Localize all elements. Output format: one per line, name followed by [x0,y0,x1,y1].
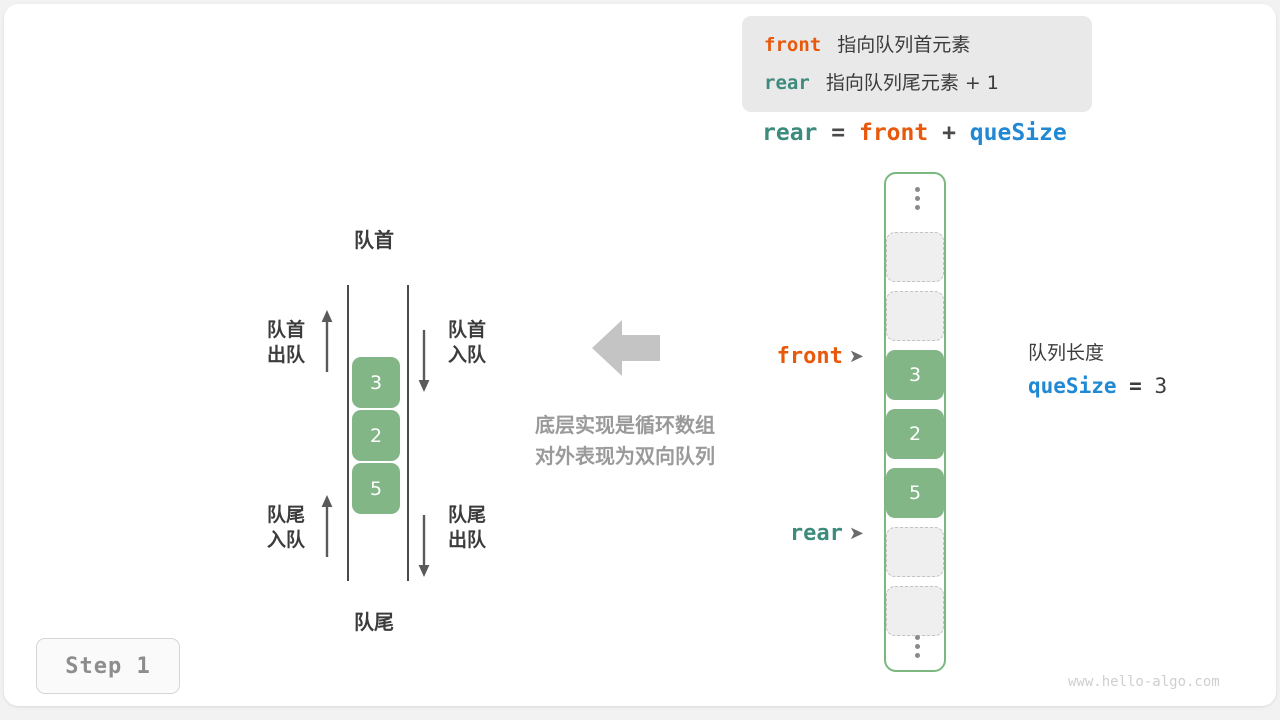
array-cell-2-value: 3 [909,364,921,386]
front-pointer-text: front [777,344,843,369]
rear-pointer-arrow-icon: ➤ [849,523,864,544]
queue-length-note: 队列长度 queSize = 3 [1028,338,1167,398]
rear-pointer-label: rear➤ [688,521,864,546]
deque-bottom-label: 队尾 [312,610,436,636]
op-front-dequeue-line1: 队首 [249,318,305,343]
deque-cell-0-value: 3 [370,372,382,394]
mapping-arrow-icon [592,318,660,378]
deque-rail-right [407,285,409,581]
quesize-value: 3 [1154,374,1167,398]
deque-cell-1-value: 2 [370,425,382,447]
array-cell-4-value: 5 [909,482,921,504]
op-rear-dequeue-line2: 出队 [448,528,508,553]
rear-pointer-text: rear [790,521,843,546]
implementation-note-line1: 底层实现是循环数组 [503,410,747,441]
implementation-note-line2: 对外表现为双向队列 [503,441,747,472]
array-cell-1[interactable] [886,291,944,341]
step-badge-label: Step 1 [65,654,150,679]
op-rear-enqueue-line1: 队尾 [249,503,305,528]
op-rear-enqueue-arrow-icon [318,495,336,557]
array-cell-4[interactable]: 5 [886,468,944,518]
deque-cell-2[interactable]: 5 [352,463,400,514]
legend-line-front: front 指向队列首元素 [764,30,970,57]
array-cell-3[interactable]: 2 [886,409,944,459]
deque-top-label: 队首 [312,228,436,254]
formula-quesize: queSize [970,120,1067,146]
front-pointer-label: front➤ [688,344,864,369]
array-cell-6[interactable] [886,586,944,636]
array-cell-0[interactable] [886,232,944,282]
op-rear-enqueue-label: 队尾 入队 [249,503,305,552]
queue-length-title: 队列长度 [1028,338,1167,365]
circular-array-frame: 3 2 5 [884,172,946,672]
formula-equals: = [831,120,845,146]
array-cell-5[interactable] [886,527,944,577]
op-front-dequeue-label: 队首 出队 [249,318,305,367]
formula-rear: rear [762,120,817,146]
op-front-dequeue-line2: 出队 [249,343,305,368]
legend-rear-token: rear [764,72,810,94]
quesize-var: queSize [1028,374,1117,398]
step-badge: Step 1 [36,638,180,694]
array-cell-2[interactable]: 3 [886,350,944,400]
op-rear-dequeue-label: 队尾 出队 [448,503,508,552]
ellipsis-top-icon [886,182,948,214]
op-front-enqueue-label: 队首 入队 [448,318,508,367]
ellipsis-bottom-icon [886,630,948,662]
deque-cell-1[interactable]: 2 [352,410,400,461]
legend-rear-text: 指向队列尾元素 + 1 [826,72,999,94]
queue-length-expression: queSize = 3 [1028,374,1167,398]
quesize-equals: = [1129,374,1142,398]
array-cell-3-value: 2 [909,423,921,445]
legend-front-text: 指向队列首元素 [837,34,970,56]
implementation-note: 底层实现是循环数组 对外表现为双向队列 [503,410,747,472]
diagram-canvas: front 指向队列首元素 rear 指向队列尾元素 + 1 rear = fr… [0,0,1280,720]
op-front-enqueue-arrow-icon [415,330,433,392]
deque-cell-0[interactable]: 3 [352,357,400,408]
pointer-legend-box: front 指向队列首元素 rear 指向队列尾元素 + 1 [742,16,1092,112]
op-front-enqueue-line2: 入队 [448,343,508,368]
op-front-dequeue-arrow-icon [318,310,336,372]
op-front-enqueue-line1: 队首 [448,318,508,343]
watermark: www.hello-algo.com [1068,674,1220,690]
op-rear-dequeue-arrow-icon [415,515,433,577]
legend-front-token: front [764,34,821,56]
op-rear-dequeue-line1: 队尾 [448,503,508,528]
deque-rail-left [347,285,349,581]
pointer-formula: rear = front + queSize [762,120,1067,146]
deque-cell-2-value: 5 [370,478,382,500]
op-rear-enqueue-line2: 入队 [249,528,305,553]
front-pointer-arrow-icon: ➤ [849,346,864,367]
formula-plus: + [942,120,956,146]
formula-front: front [859,120,928,146]
legend-line-rear: rear 指向队列尾元素 + 1 [764,68,999,95]
